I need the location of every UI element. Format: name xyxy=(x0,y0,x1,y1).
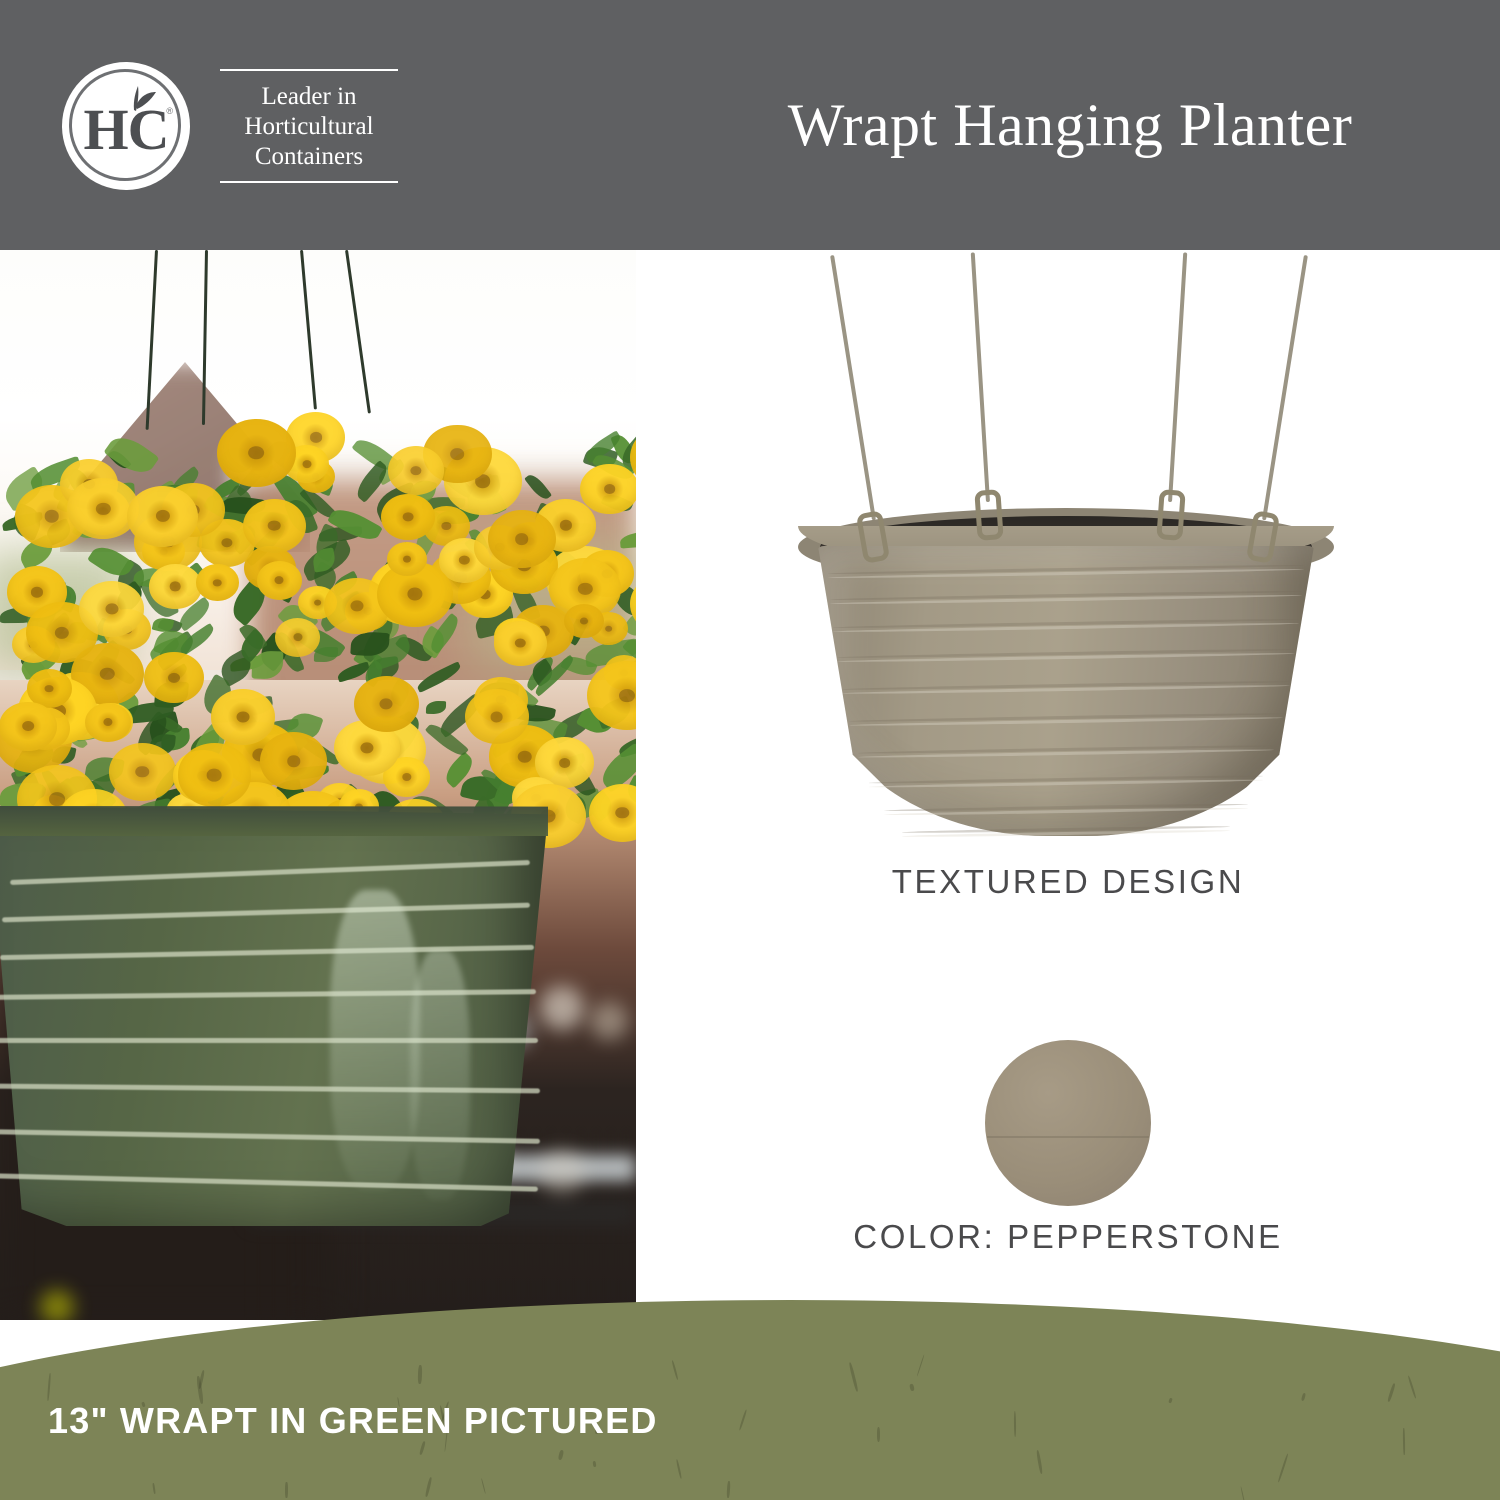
petunia-foliage xyxy=(0,370,636,810)
petunia-flower xyxy=(275,618,320,657)
petunia-flower xyxy=(178,743,252,806)
tagline-line-1: Leader in xyxy=(220,82,398,112)
hanger-wire-3 xyxy=(1262,255,1308,520)
lifestyle-photo xyxy=(0,250,636,1320)
pepperstone-planter xyxy=(776,250,1356,850)
petunia-flower xyxy=(388,446,444,494)
hanger-clip-center-right xyxy=(1156,489,1185,541)
feature-label-textured-design: TEXTURED DESIGN xyxy=(636,863,1500,901)
swatch-seam xyxy=(987,1136,1149,1138)
tagline-line-3: Containers xyxy=(220,142,398,172)
petunia-flower xyxy=(144,652,204,704)
registered-mark: ® xyxy=(166,106,173,116)
banner-speck xyxy=(418,1365,422,1384)
petunia-flower xyxy=(85,703,131,742)
banner-speck xyxy=(877,1427,880,1442)
petunia-flower xyxy=(465,689,529,744)
hanger-wire-2 xyxy=(1168,252,1187,502)
banner-caption: 13" WRAPT IN GREEN PICTURED xyxy=(48,1400,848,1442)
petunia-flower xyxy=(354,676,419,732)
petunia-flower xyxy=(257,561,302,600)
petunia-flower xyxy=(149,564,202,610)
logo-monogram: HC xyxy=(62,62,190,190)
banner-speck xyxy=(285,1482,288,1498)
brand-tagline: Leader in Horticultural Containers xyxy=(216,69,402,183)
leaf xyxy=(415,661,464,693)
green-pot-gloss-1 xyxy=(330,890,420,1190)
leaf-sprout-icon xyxy=(118,84,158,118)
petunia-flower xyxy=(127,486,198,547)
leaf xyxy=(524,471,552,502)
bokeh-8 xyxy=(540,986,584,1030)
petunia-flower xyxy=(243,499,306,553)
tagline-rule-bottom xyxy=(220,181,398,183)
petunia-flower xyxy=(580,464,636,514)
hanger-wire-0 xyxy=(830,255,876,520)
feature-label-color: COLOR: PEPPERSTONE xyxy=(636,1218,1500,1256)
green-planter-rim xyxy=(0,806,548,836)
bokeh-9 xyxy=(590,1002,628,1040)
tagline-line-2: Horticultural xyxy=(220,112,398,142)
petunia-flower xyxy=(494,621,546,666)
bokeh-12 xyxy=(40,1290,74,1320)
bokeh-11 xyxy=(540,1150,584,1194)
petunia-flower xyxy=(79,581,144,637)
hc-logo-icon: HC ® xyxy=(62,62,190,190)
petunia-flower xyxy=(387,542,427,576)
petunia-flower xyxy=(488,510,556,569)
page-title-text: Wrapt Hanging Planter xyxy=(788,91,1353,160)
color-swatch xyxy=(985,1040,1151,1206)
petunia-flower xyxy=(109,743,176,801)
petunia-flower xyxy=(381,494,435,540)
petunia-flower xyxy=(217,419,296,487)
petunia-flower xyxy=(196,564,239,601)
petunia-flower xyxy=(211,689,276,745)
product-infographic: HC ® Leader in Horticultural Containers … xyxy=(0,0,1500,1500)
hanger-clip-center-left xyxy=(974,489,1003,541)
leaf xyxy=(426,701,447,714)
green-pot-gloss-2 xyxy=(410,950,470,1200)
petunia-flower xyxy=(260,732,327,790)
tagline-rule-top xyxy=(220,69,398,71)
hanger-wire-1 xyxy=(971,252,990,502)
header-bar: HC ® Leader in Horticultural Containers … xyxy=(0,0,1500,250)
brand-logo: HC ® Leader in Horticultural Containers xyxy=(62,45,407,207)
leaf xyxy=(619,531,636,549)
product-column: TEXTURED DESIGN COLOR: PEPPERSTONE xyxy=(636,250,1500,1320)
page-title: Wrapt Hanging Planter xyxy=(640,0,1500,250)
